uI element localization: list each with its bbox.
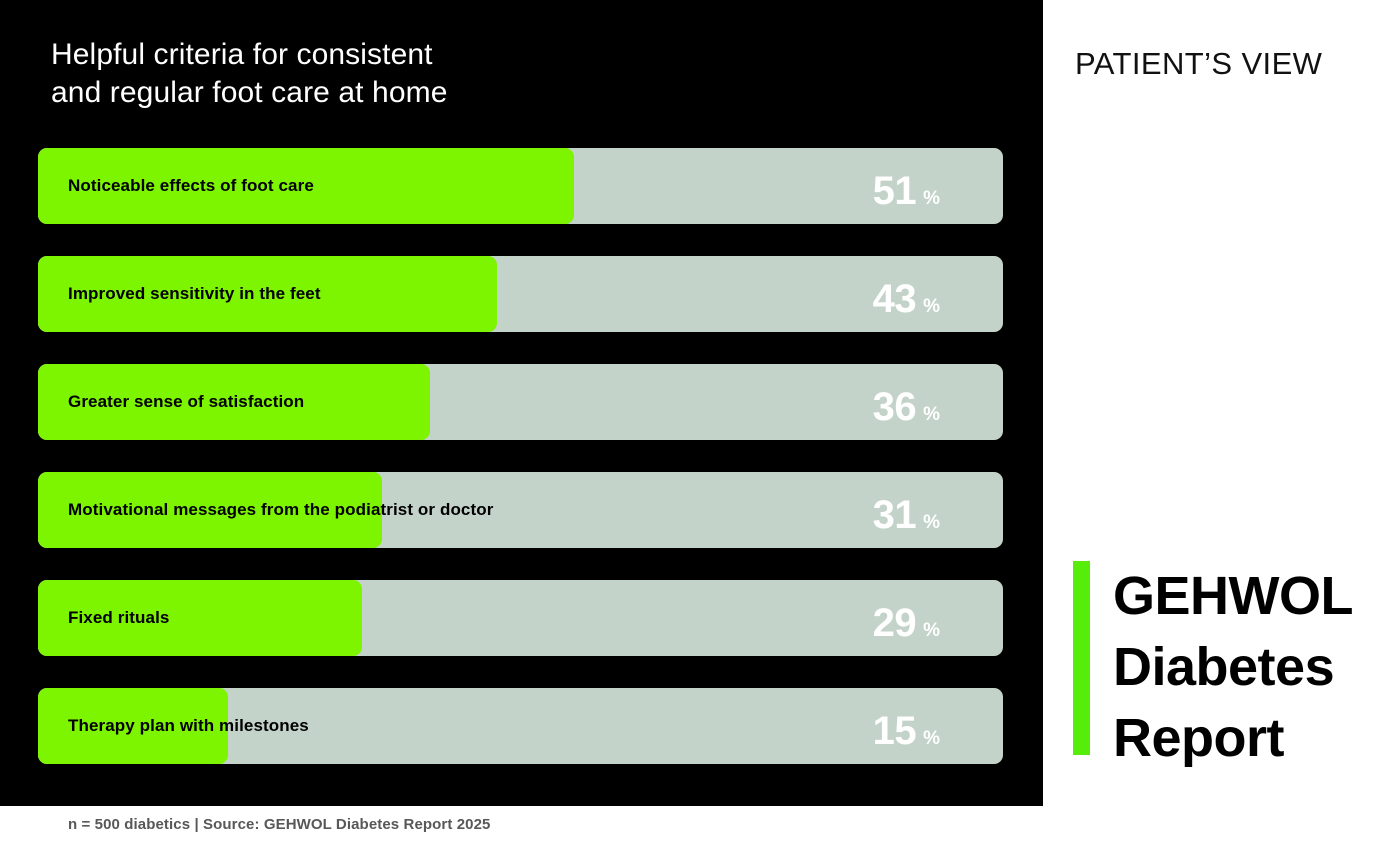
bar-value-unit: %: [923, 729, 940, 748]
bar-label: Noticeable effects of foot care: [68, 148, 314, 224]
bar-value-wrap: 43%: [873, 279, 940, 319]
side-panel: PATIENT’S VIEW GEHWOL Diabetes Report: [1043, 0, 1400, 856]
bar-value: 51%: [873, 148, 940, 224]
chart-title: Helpful criteria for consistent and regu…: [51, 36, 447, 112]
bar-value-unit: %: [923, 621, 940, 640]
bar-label: Greater sense of satisfaction: [68, 364, 304, 440]
bar-value-number: 29: [873, 603, 917, 643]
bar-row: Fixed rituals29%: [38, 580, 1003, 656]
bar-label: Motivational messages from the podiatris…: [68, 472, 493, 548]
bar-value-number: 51: [873, 171, 917, 211]
bar-value-number: 43: [873, 279, 917, 319]
bar-value-number: 36: [873, 387, 917, 427]
bar-value-wrap: 29%: [873, 603, 940, 643]
chart-panel: Helpful criteria for consistent and regu…: [0, 0, 1043, 806]
bar-value: 29%: [873, 580, 940, 656]
bar-value: 15%: [873, 688, 940, 764]
bar-value-wrap: 31%: [873, 495, 940, 535]
brand-logo-text: GEHWOL Diabetes Report: [1113, 561, 1353, 774]
bar-row: Therapy plan with milestones15%: [38, 688, 1003, 764]
bar-value: 36%: [873, 364, 940, 440]
patients-view-heading: PATIENT’S VIEW: [1075, 46, 1322, 82]
bar-value-number: 15: [873, 711, 917, 751]
bar-label: Fixed rituals: [68, 580, 169, 656]
bar-value-wrap: 15%: [873, 711, 940, 751]
bar-value-unit: %: [923, 189, 940, 208]
bar-chart: Noticeable effects of foot care51%Improv…: [38, 148, 1003, 796]
brand-accent-bar-icon: [1073, 561, 1090, 755]
bar-value-unit: %: [923, 513, 940, 532]
bar-row: Motivational messages from the podiatris…: [38, 472, 1003, 548]
bar-label: Improved sensitivity in the feet: [68, 256, 321, 332]
bar-row: Noticeable effects of foot care51%: [38, 148, 1003, 224]
bar-value: 43%: [873, 256, 940, 332]
bar-value-wrap: 51%: [873, 171, 940, 211]
source-note: n = 500 diabetics | Source: GEHWOL Diabe…: [68, 816, 490, 833]
brand-logo: GEHWOL Diabetes Report: [1073, 561, 1353, 774]
bar-value-unit: %: [923, 297, 940, 316]
bar-value-number: 31: [873, 495, 917, 535]
bar-value-wrap: 36%: [873, 387, 940, 427]
bar-value: 31%: [873, 472, 940, 548]
bar-row: Improved sensitivity in the feet43%: [38, 256, 1003, 332]
bar-label: Therapy plan with milestones: [68, 688, 309, 764]
bar-row: Greater sense of satisfaction36%: [38, 364, 1003, 440]
bar-value-unit: %: [923, 405, 940, 424]
